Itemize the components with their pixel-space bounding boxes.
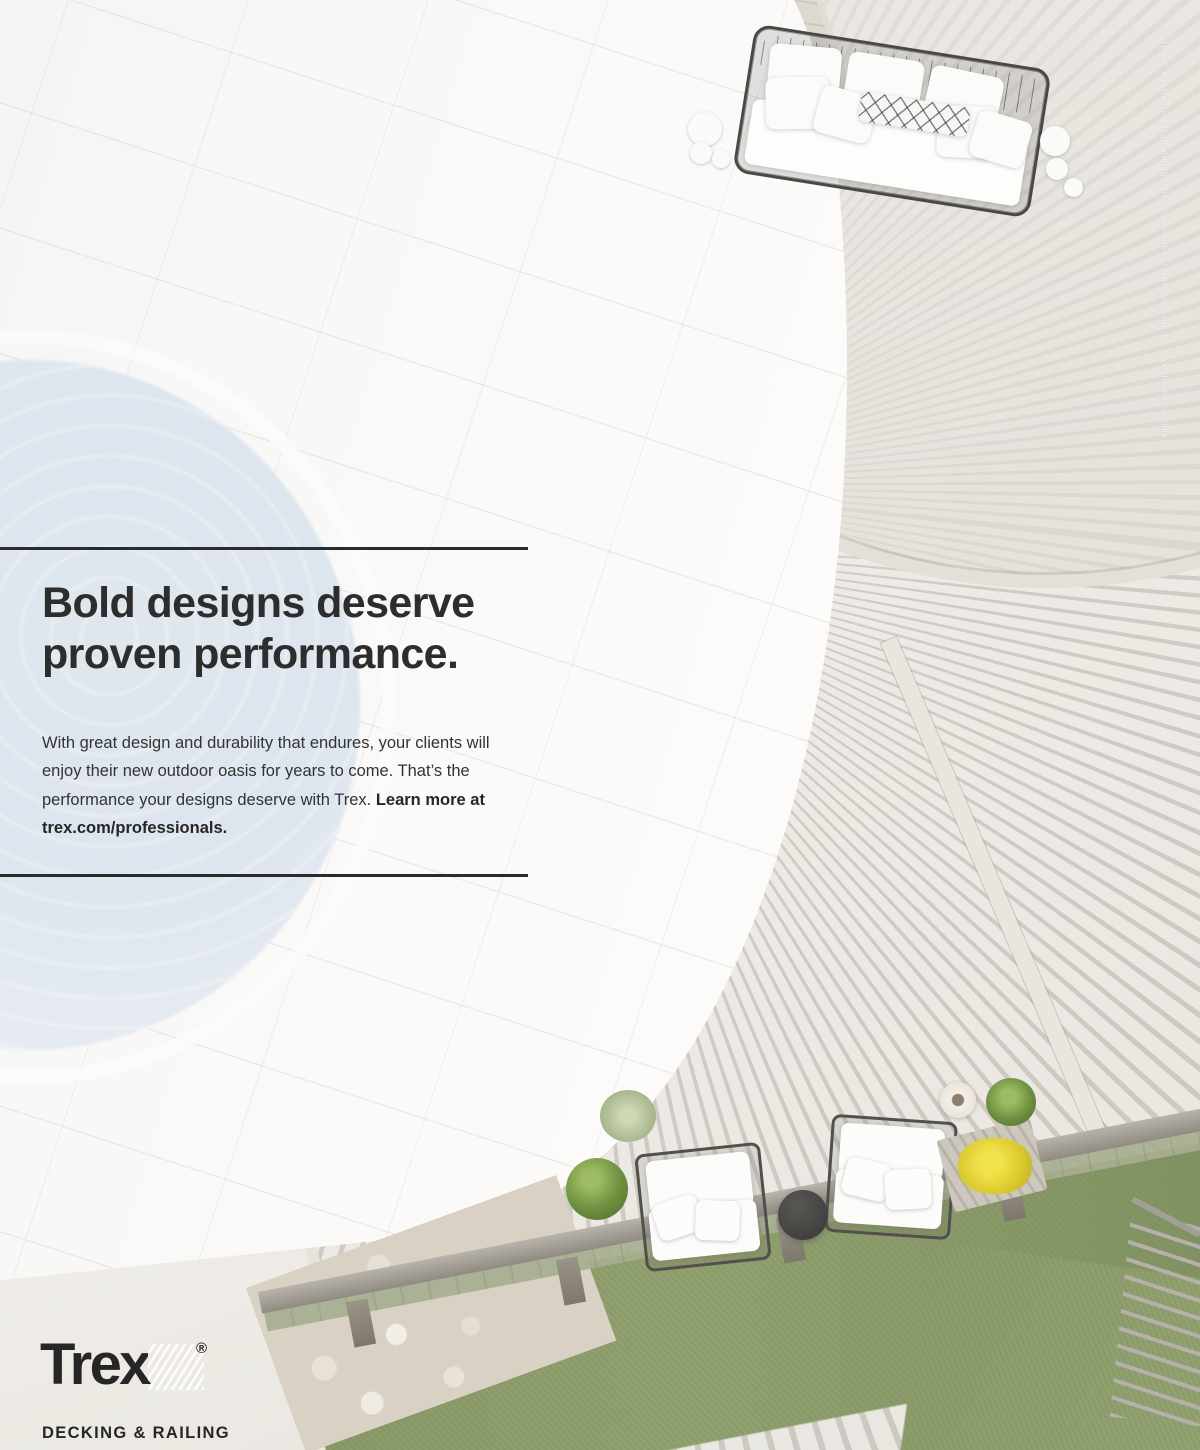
side-stool [688, 112, 722, 146]
lounge-pillow [884, 1168, 932, 1210]
trex-wordmark: Trex [40, 1336, 149, 1394]
lounge-chair-right [824, 1114, 958, 1241]
hero-photograph [0, 0, 1200, 1450]
brand-tagline: DECKING & RAILING [42, 1424, 230, 1443]
text-block-bottom-rule [0, 874, 528, 877]
potted-green-shrub [986, 1078, 1036, 1126]
side-stool [1040, 126, 1070, 156]
legal-fine-print: Trex® and the Trex logo are registered t… [1160, 40, 1170, 438]
text-block-top-rule [0, 547, 528, 550]
trex-logo: Trex [40, 1336, 270, 1394]
lounge-pillow [695, 1200, 740, 1242]
round-side-table [778, 1190, 828, 1240]
side-stool [712, 150, 730, 168]
potted-spiky-grass [600, 1090, 656, 1142]
registered-trademark-icon: ® [196, 1340, 207, 1357]
side-stool [1046, 158, 1068, 180]
ad-page: Bold designs deserve proven performance.… [0, 0, 1200, 1450]
lounge-chair-left [634, 1142, 772, 1273]
body-copy: With great design and durability that en… [42, 729, 494, 843]
side-stool [1064, 178, 1083, 197]
headline: Bold designs deserve proven performance. [42, 578, 562, 679]
side-stool [690, 142, 712, 164]
yellow-flowering-plant [958, 1138, 1032, 1194]
potted-green-bush [566, 1158, 628, 1220]
ceramic-urn-planter [940, 1082, 976, 1118]
